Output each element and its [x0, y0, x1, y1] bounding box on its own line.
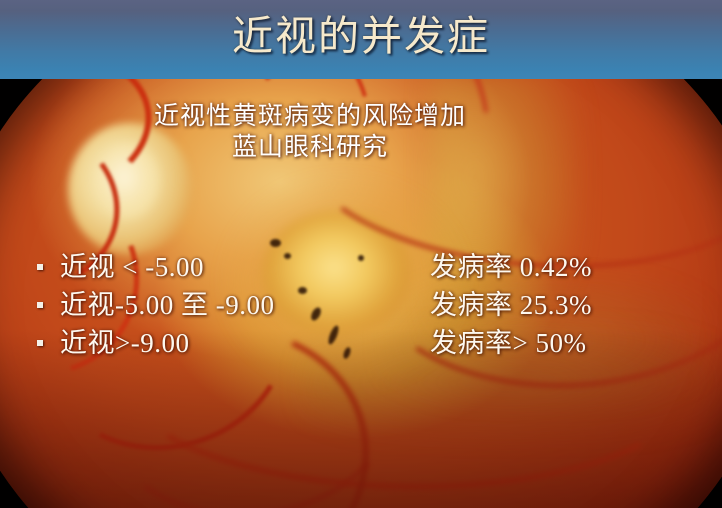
slide-header: 近视的并发症 — [0, 0, 722, 79]
page-title: 近视的并发症 — [0, 5, 722, 67]
presentation-slide: 近视性黄斑病变的风险增加 蓝山眼科研究 近视 < -5.00 发病率 0.42%… — [0, 0, 722, 508]
bullet-value: 发病率 25.3% — [430, 287, 592, 323]
square-bullet-icon — [37, 340, 43, 346]
bullet-label: 近视 < -5.00 — [60, 249, 204, 285]
subtitle-line-2: 蓝山眼科研究 — [0, 132, 620, 163]
bullet-value: 发病率> 50% — [430, 325, 586, 361]
bullet-label: 近视-5.00 至 -9.00 — [60, 287, 274, 323]
list-item: 近视>-9.00 发病率> 50% — [0, 325, 722, 363]
bullet-label: 近视>-9.00 — [60, 325, 189, 361]
bullet-value: 发病率 0.42% — [430, 249, 592, 285]
subtitle-line-1: 近视性黄斑病变的风险增加 — [0, 101, 620, 132]
list-item: 近视 < -5.00 发病率 0.42% — [0, 249, 722, 287]
retinal-fundus-photograph: 近视性黄斑病变的风险增加 蓝山眼科研究 近视 < -5.00 发病率 0.42%… — [0, 79, 722, 508]
list-item: 近视-5.00 至 -9.00 发病率 25.3% — [0, 287, 722, 325]
bullet-list: 近视 < -5.00 发病率 0.42% 近视-5.00 至 -9.00 发病率… — [0, 249, 722, 363]
square-bullet-icon — [37, 264, 43, 270]
square-bullet-icon — [37, 302, 43, 308]
subtitle-block: 近视性黄斑病变的风险增加 蓝山眼科研究 — [0, 101, 620, 163]
